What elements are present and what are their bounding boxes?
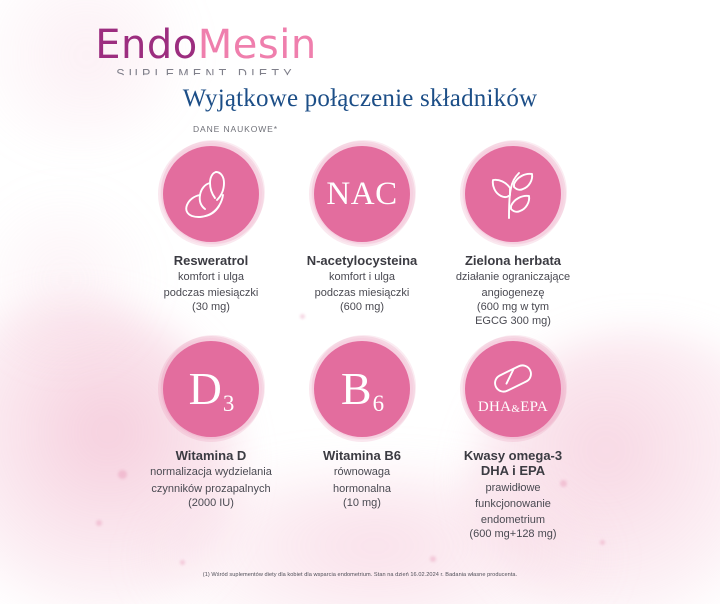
ingredient-dose-line2: EGCG 300 mg): [475, 314, 551, 328]
capsule-pill-icon: [490, 361, 536, 395]
ingredient-card-vitamin-b6: B6 Witamina B6 równowaga hormonalna (10 …: [289, 341, 435, 540]
ingredients-row-1: Resweratrol komfort i ulga podczas miesi…: [138, 146, 586, 328]
brand-logo: EndoMesin SUPLEMENT DIETY: [56, 24, 356, 81]
brand-tagline: SUPLEMENT DIETY: [56, 67, 356, 81]
caption-dha: DHA: [478, 399, 511, 415]
ingredient-title: Witamina B6: [323, 448, 401, 463]
ingredient-desc-line1: działanie ograniczające: [456, 270, 570, 284]
eyebrow-label: DANE NAUKOWE*: [193, 124, 278, 134]
ingredient-title: Witamina D: [176, 448, 247, 463]
ingredient-card-nac: NAC N-acetylocysteina komfort i ulga pod…: [289, 146, 435, 328]
vitamin-b6-letter-icon: B6: [341, 366, 383, 412]
badge-green-tea: [465, 146, 561, 242]
ingredient-dose: (600 mg+128 mg): [469, 527, 556, 541]
background-speck: [118, 470, 127, 479]
nac-label: NAC: [326, 178, 397, 211]
background-wash-mid-left: [0, 180, 160, 380]
ingredient-title-line2: DHA i EPA: [481, 463, 545, 478]
ingredient-dose: (600 mg): [340, 300, 384, 314]
ingredient-desc-line1: prawidłowe: [485, 481, 540, 495]
ingredient-desc-line1: komfort i ulga: [178, 270, 244, 284]
ingredient-desc-line1: komfort i ulga: [329, 270, 395, 284]
ingredient-desc-line3: endometrium: [481, 513, 545, 527]
ingredient-desc-line2: hormonalna: [333, 482, 391, 496]
ingredient-desc-line2: angiogenezę: [481, 286, 544, 300]
badge-omega-3: DHA&EPA: [465, 341, 561, 437]
vitamin-letter: D: [189, 363, 222, 414]
ingredient-title-line1: Kwasy omega-3: [464, 448, 562, 463]
tea-leaf-icon: [484, 166, 542, 222]
brand-name: EndoMesin: [56, 24, 356, 66]
ingredients-row-2: D3 Witamina D normalizacja wydzielania c…: [138, 341, 586, 540]
vitamin-subscript: 3: [223, 391, 235, 416]
caption-epa: EPA: [520, 399, 548, 415]
ingredients-grid: Resweratrol komfort i ulga podczas miesi…: [138, 146, 586, 541]
vitamin-d3-letter-icon: D3: [189, 366, 234, 412]
ingredient-title: N-acetylocysteina: [307, 253, 418, 268]
badge-vitamin-d: D3: [163, 341, 259, 437]
ingredient-card-resveratrol: Resweratrol komfort i ulga podczas miesi…: [138, 146, 284, 328]
background-speck: [600, 540, 605, 545]
ingredient-title: Zielona herbata: [465, 253, 561, 268]
grape-cluster-icon: [180, 168, 242, 220]
ingredient-card-green-tea: Zielona herbata działanie ograniczające …: [440, 146, 586, 328]
ingredient-dose: (2000 IU): [188, 496, 234, 510]
brand-name-part2: Mesin: [198, 22, 317, 68]
ingredient-card-omega-3: DHA&EPA Kwasy omega-3 DHA i EPA prawidło…: [440, 341, 586, 540]
page-title: Wyjątkowe połączenie składników: [0, 85, 720, 113]
omega-badge-caption: DHA&EPA: [478, 399, 548, 416]
ingredient-desc-line2: podczas miesiączki: [164, 286, 259, 300]
ingredient-dose: (30 mg): [192, 300, 230, 314]
ingredient-dose: (10 mg): [343, 496, 381, 510]
ingredient-desc-line2: funkcjonowanie: [475, 497, 551, 511]
brand-name-part1: Endo: [95, 22, 198, 68]
ingredient-dose-line1: (600 mg w tym: [477, 300, 549, 314]
ingredient-desc-line2: czynników prozapalnych: [151, 482, 270, 496]
caption-ampersand: &: [511, 403, 520, 415]
badge-nac: NAC: [314, 146, 410, 242]
background-speck: [96, 520, 102, 526]
footnote-text: (1) Wśród suplementów diety dla kobiet d…: [0, 572, 720, 578]
background-speck: [180, 560, 185, 565]
product-infographic-page: EndoMesin SUPLEMENT DIETY Wyjątkowe połą…: [0, 0, 720, 604]
badge-resveratrol: [163, 146, 259, 242]
ingredient-desc-line1: równowaga: [334, 465, 390, 479]
ingredient-desc-line2: podczas miesiączki: [315, 286, 410, 300]
vitamin-letter: B: [341, 363, 372, 414]
vitamin-subscript: 6: [373, 391, 385, 416]
ingredient-desc-line1: normalizacja wydzielania: [150, 465, 272, 479]
background-speck: [430, 556, 436, 562]
ingredient-card-vitamin-d: D3 Witamina D normalizacja wydzielania c…: [138, 341, 284, 540]
badge-vitamin-b6: B6: [314, 341, 410, 437]
ingredient-title: Resweratrol: [174, 253, 248, 268]
